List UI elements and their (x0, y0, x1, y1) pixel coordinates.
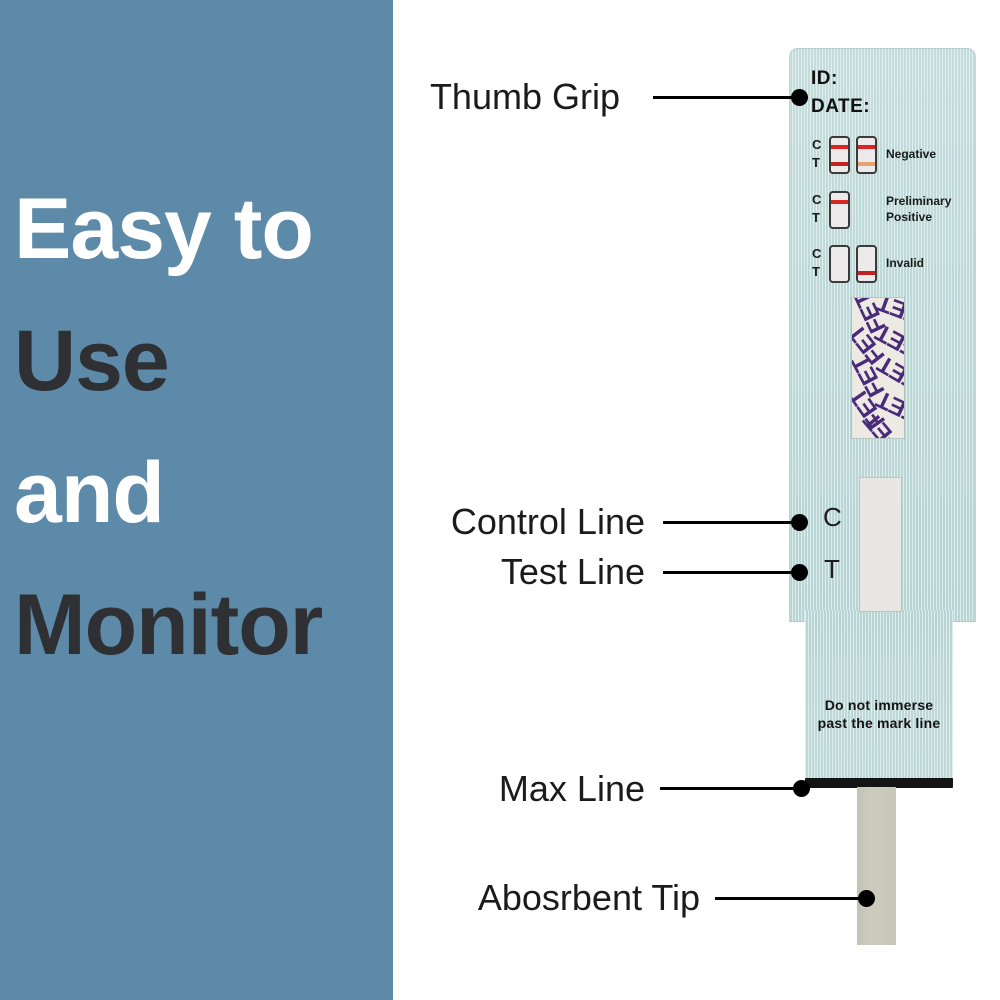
result-key-negative-window-1 (829, 136, 850, 174)
immerse-warning-line-2: past the mark line (805, 715, 953, 733)
headline-line-2: Use (14, 318, 393, 404)
result-key-invalid-window-2 (856, 245, 877, 283)
callout-test-line-label: Test Line (320, 551, 645, 593)
result-key-invalid-window-1 (829, 245, 850, 283)
callout-max-line-leader (660, 787, 800, 790)
callout-test-line-dot (791, 564, 808, 581)
callout-absorbent-tip-dot (858, 890, 875, 907)
control-band (831, 145, 848, 149)
callout-thumb-grip-label: Thumb Grip (325, 76, 620, 118)
absorbent-tip (857, 787, 896, 945)
tamper-evident-sticker: FET FET FET FET FET FET FET FET FET (852, 298, 904, 438)
result-key-prelim-t: T (812, 211, 820, 224)
result-key-negative-label: Negative (886, 148, 936, 162)
left-feature-panel: Easy to Use and Monitor (0, 0, 393, 1000)
control-band (831, 200, 848, 204)
callout-max-line-label: Max Line (345, 768, 645, 810)
callout-absorbent-tip-label: Abosrbent Tip (300, 877, 700, 919)
callout-test-line-leader (663, 571, 798, 574)
result-key-prelim-label-line1: Preliminary (886, 195, 951, 209)
callout-max-line-dot (793, 780, 810, 797)
callout-thumb-grip-leader (653, 96, 798, 99)
result-key-negative: C T Negative (812, 136, 942, 180)
result-key-invalid-c: C (812, 247, 821, 260)
strip-id-label: ID: (811, 68, 838, 90)
strip-lower-body (805, 610, 953, 782)
result-key-invalid: C T Invalid (812, 245, 942, 289)
control-band (858, 145, 875, 149)
result-key-negative-window-2 (856, 136, 877, 174)
result-window (860, 478, 901, 611)
immerse-warning-line-1: Do not immerse (805, 697, 953, 715)
control-line-mark: C (823, 504, 842, 530)
headline-line-1: Easy to (14, 186, 393, 272)
result-key-negative-t: T (812, 156, 820, 169)
result-key-invalid-label: Invalid (886, 257, 924, 271)
result-key-negative-c: C (812, 138, 821, 151)
callout-control-line-label: Control Line (320, 501, 645, 543)
result-key-prelim-c: C (812, 193, 821, 206)
result-key-prelim-window-1 (829, 191, 850, 229)
result-key-invalid-t: T (812, 265, 820, 278)
callout-thumb-grip-dot (791, 89, 808, 106)
test-band-faint (858, 162, 875, 166)
headline-line-4: Monitor (14, 582, 393, 668)
product-infographic: Easy to Use and Monitor ID: DATE: C T (0, 0, 1000, 1000)
result-key-preliminary-positive: C T Preliminary Positive (812, 191, 942, 235)
strip-date-label: DATE: (811, 96, 870, 118)
result-key-prelim-label-line2: Positive (886, 211, 932, 225)
callout-absorbent-tip-leader (715, 897, 863, 900)
callout-control-line-dot (791, 514, 808, 531)
test-band (831, 162, 848, 166)
immerse-warning-note: Do not immerse past the mark line (805, 697, 953, 732)
test-line-mark: T (824, 556, 840, 582)
test-band (858, 271, 875, 275)
callout-control-line-leader (663, 521, 798, 524)
